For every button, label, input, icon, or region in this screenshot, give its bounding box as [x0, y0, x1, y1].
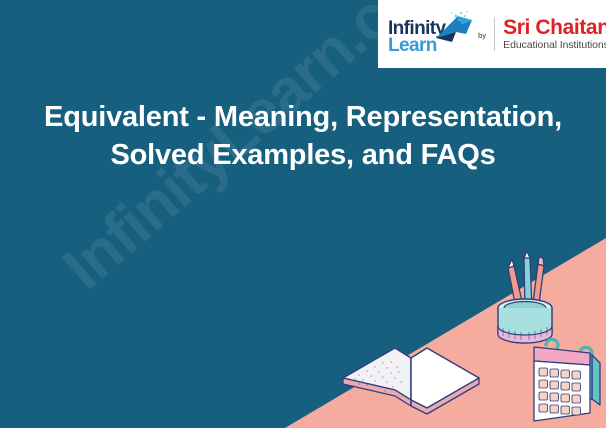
page-title: Equivalent - Meaning, Representation, So… [40, 98, 566, 175]
logo-connector-label: by [478, 29, 486, 40]
brand-logo-card: Infinity Learn by Sri Chaitanya Educatio… [378, 0, 606, 68]
infinity-learn-logo: Infinity Learn [388, 8, 474, 60]
sri-chaitanya-name: Sri Chaitanya [503, 17, 606, 39]
sri-chaitanya-logo: Sri Chaitanya Educational Institutions [503, 17, 606, 51]
bird-arrow-icon [432, 10, 476, 50]
logo-divider [494, 17, 495, 51]
poster-canvas: InfinityLearn.com Infinity Learn by [0, 0, 606, 428]
sri-chaitanya-tagline: Educational Institutions [503, 40, 606, 51]
